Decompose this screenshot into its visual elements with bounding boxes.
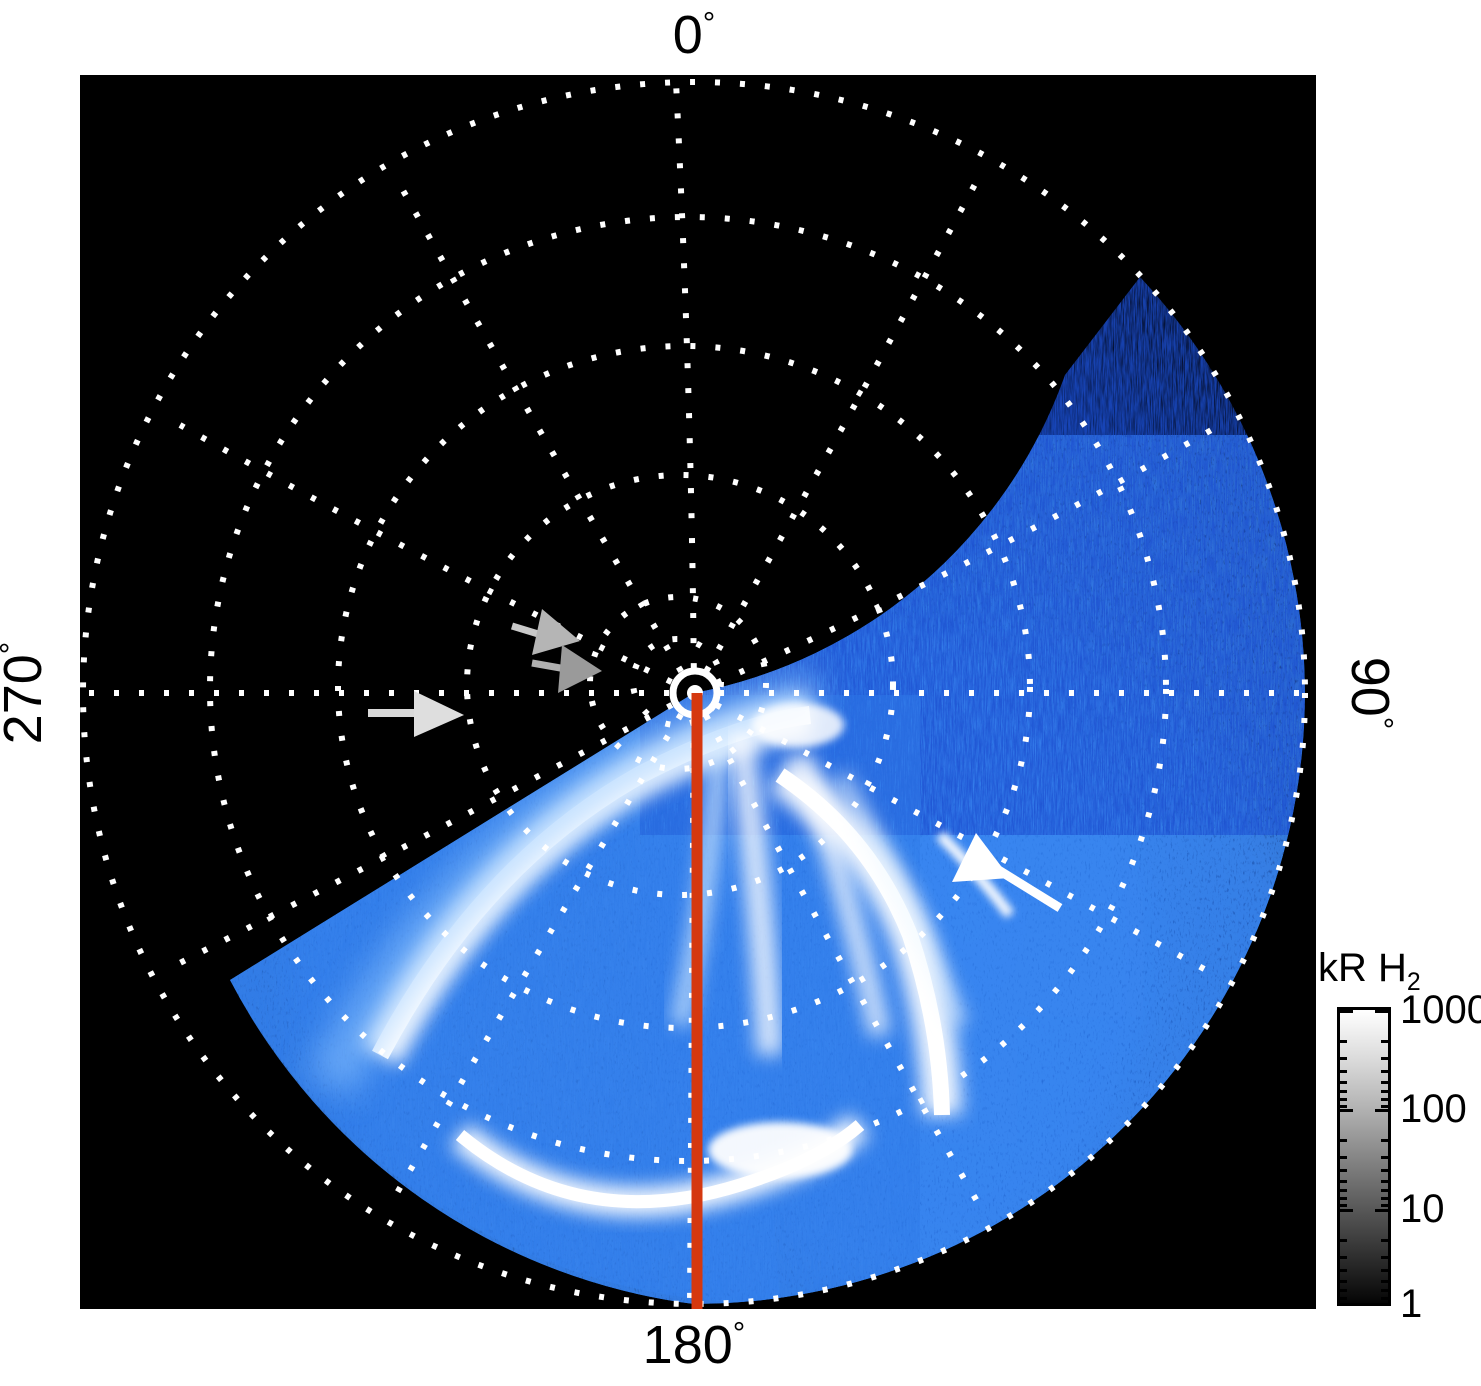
colorbar-minor-tick	[1340, 1303, 1347, 1306]
colorbar-minor-tick	[1381, 1256, 1388, 1259]
colorbar-minor-tick	[1381, 1204, 1388, 1207]
colorbar-minor-tick	[1340, 1105, 1347, 1108]
degree-symbol: °	[0, 642, 29, 655]
colorbar-tick-10	[1340, 1209, 1353, 1212]
azimuth-label-270: 270°	[0, 623, 50, 763]
colorbar-minor-tick	[1381, 1269, 1388, 1272]
colorbar-minor-tick	[1340, 1070, 1347, 1073]
colorbar-minor-tick	[1340, 1239, 1347, 1242]
colorbar-tick-100	[1340, 1109, 1353, 1112]
colorbar-minor-tick	[1381, 1297, 1388, 1300]
colorbar-minor-tick	[1340, 1256, 1347, 1259]
degree-symbol: °	[733, 1316, 746, 1351]
colorbar-minor-tick	[1340, 1289, 1347, 1292]
colorbar-minor-tick	[1340, 1156, 1347, 1159]
colorbar-label-100: 100	[1400, 1089, 1467, 1129]
azimuth-label-90: 90°	[1343, 623, 1397, 763]
colorbar-minor-tick	[1381, 1040, 1388, 1043]
colorbar-minor-tick	[1340, 1280, 1347, 1283]
colorbar-tick-100-r	[1375, 1109, 1388, 1112]
colorbar-minor-tick	[1381, 1090, 1388, 1093]
azimuth-label-270-value: 270	[0, 654, 53, 744]
colorbar-minor-tick	[1381, 1289, 1388, 1292]
colorbar: kR H2	[1318, 946, 1478, 1346]
colorbar-title: kR H2	[1318, 946, 1421, 991]
colorbar-minor-tick	[1340, 1169, 1347, 1172]
colorbar-minor-tick	[1340, 1090, 1347, 1093]
colorbar-minor-tick	[1340, 1139, 1347, 1142]
colorbar-title-main: kR H	[1318, 946, 1407, 990]
colorbar-tick-1000-r	[1375, 1010, 1388, 1013]
colorbar-minor-tick	[1381, 1081, 1388, 1084]
colorbar-minor-tick	[1340, 1098, 1347, 1101]
colorbar-minor-tick	[1340, 1269, 1347, 1272]
colorbar-label-1000: 1000	[1400, 990, 1481, 1030]
colorbar-gradient	[1337, 1007, 1391, 1306]
colorbar-minor-tick	[1340, 1081, 1347, 1084]
colorbar-minor-tick	[1381, 1156, 1388, 1159]
colorbar-minor-tick	[1381, 1303, 1388, 1306]
colorbar-minor-tick	[1340, 1297, 1347, 1300]
azimuth-label-180-value: 180	[643, 1315, 733, 1375]
colorbar-minor-tick	[1381, 1280, 1388, 1283]
colorbar-minor-tick	[1340, 1189, 1347, 1192]
colorbar-minor-tick	[1340, 1180, 1347, 1183]
colorbar-minor-tick	[1381, 1180, 1388, 1183]
colorbar-minor-tick	[1381, 1139, 1388, 1142]
colorbar-tick-10-r	[1375, 1209, 1388, 1212]
degree-symbol: °	[1364, 717, 1399, 730]
azimuth-label-180: 180°	[0, 1318, 1388, 1372]
degree-symbol: °	[703, 6, 716, 41]
colorbar-minor-tick	[1381, 1057, 1388, 1060]
colorbar-minor-tick	[1381, 1098, 1388, 1101]
colorbar-label-10: 10	[1400, 1189, 1445, 1229]
polar-map-svg	[80, 75, 1316, 1309]
colorbar-minor-tick	[1381, 1169, 1388, 1172]
azimuth-label-0-value: 0	[673, 5, 703, 65]
colorbar-minor-tick	[1381, 1197, 1388, 1200]
colorbar-minor-tick	[1381, 1070, 1388, 1073]
colorbar-minor-tick	[1340, 1040, 1347, 1043]
colorbar-minor-tick	[1340, 1197, 1347, 1200]
azimuth-label-90-value: 90	[1340, 657, 1400, 717]
colorbar-minor-tick	[1381, 1239, 1388, 1242]
colorbar-tick-1000	[1340, 1010, 1353, 1013]
colorbar-minor-tick	[1340, 1204, 1347, 1207]
colorbar-minor-tick	[1381, 1189, 1388, 1192]
azimuth-label-0: 0°	[0, 8, 1388, 62]
polar-plot-panel	[80, 75, 1316, 1309]
colorbar-minor-tick	[1381, 1105, 1388, 1108]
colorbar-minor-tick	[1340, 1057, 1347, 1060]
figure-canvas: 0° 180° 270° 90°	[0, 0, 1481, 1386]
colorbar-label-1: 1	[1400, 1284, 1422, 1324]
